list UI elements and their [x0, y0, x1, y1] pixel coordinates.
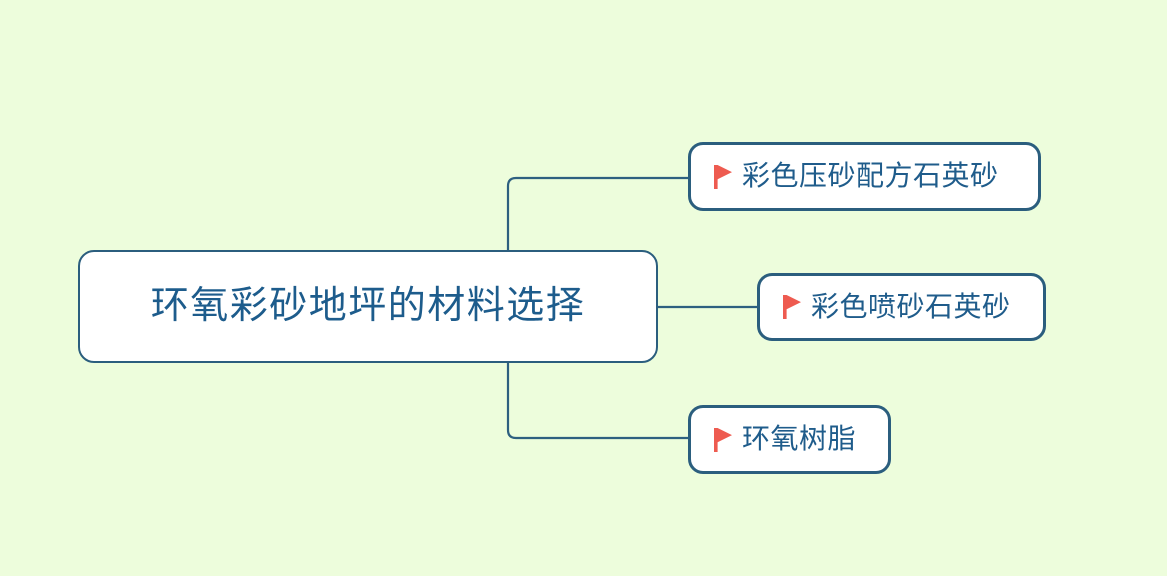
mindmap-branch-node-3[interactable]: 环氧树脂	[688, 405, 891, 474]
flag-icon	[712, 164, 733, 190]
mindmap-branch-node-1[interactable]: 彩色压砂配方石英砂	[688, 142, 1041, 211]
mindmap-branch-node-2[interactable]: 彩色喷砂石英砂	[757, 273, 1046, 341]
mindmap-branch-label-1: 彩色压砂配方石英砂	[742, 161, 999, 192]
connector-branch-1	[508, 178, 688, 252]
mindmap-root-node[interactable]: 环氧彩砂地坪的材料选择	[78, 250, 658, 363]
mindmap-branch-label-3: 环氧树脂	[742, 424, 856, 455]
flag-icon	[781, 294, 802, 320]
mindmap-branch-label-2: 彩色喷砂石英砂	[811, 292, 1011, 323]
flag-icon	[712, 427, 733, 453]
mindmap-root-label: 环氧彩砂地坪的材料选择	[151, 286, 586, 328]
mindmap-canvas: 环氧彩砂地坪的材料选择 彩色压砂配方石英砂 彩色喷砂石英砂 环氧树脂	[0, 0, 1167, 576]
connector-branch-3	[508, 361, 688, 438]
